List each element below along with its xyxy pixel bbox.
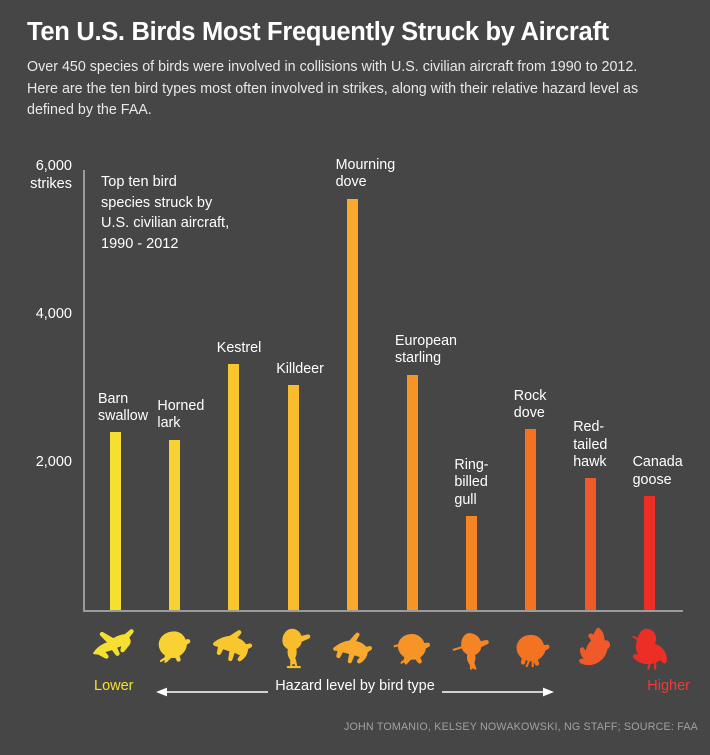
kestrel-icon: [208, 622, 260, 674]
bar-ring-billed-gull: [466, 516, 477, 610]
arrow-right-icon: [442, 687, 554, 697]
bar-label-barn-swallow: Barn swallow: [98, 391, 148, 426]
ring-billed-gull-icon: [445, 622, 497, 674]
bar-mourning-dove: [347, 199, 358, 610]
bar-label-rock-dove: Rock dove: [514, 388, 547, 423]
european-starling-icon: [386, 622, 438, 674]
hazard-legend: Lower Hazard level by bird type Higher: [0, 678, 710, 702]
red-tailed-hawk-icon: [564, 622, 616, 674]
infographic-root: Ten U.S. Birds Most Frequently Struck by…: [0, 0, 710, 755]
credit-line: JOHN TOMANIO, KELSEY NOWAKOWSKI, NG STAF…: [344, 721, 698, 733]
bar-european-starling: [407, 375, 418, 610]
bar-label-killdeer: Killdeer: [276, 361, 324, 378]
bar-label-european-starling: European starling: [395, 333, 457, 368]
barn-swallow-icon: [89, 622, 141, 674]
bar-label-horned-lark: Horned lark: [157, 398, 204, 433]
bar-label-ring-billed-gull: Ring- billed gull: [454, 457, 488, 509]
horned-lark-icon: [148, 622, 200, 674]
bar-label-canada-goose: Canada goose: [633, 454, 683, 489]
killdeer-icon: [267, 622, 319, 674]
bar-label-kestrel: Kestrel: [217, 340, 262, 357]
bar-canada-goose: [644, 496, 655, 610]
bird-silhouette-row: [0, 622, 710, 678]
bar-horned-lark: [169, 440, 180, 610]
hazard-center-label: Hazard level by bird type: [0, 678, 710, 694]
bar-killdeer: [288, 385, 299, 610]
bar-kestrel: [228, 364, 239, 610]
bar-red-tailed-hawk: [585, 478, 596, 610]
hazard-higher-label: Higher: [647, 678, 690, 694]
bar-label-mourning-dove: Mourning dove: [336, 157, 396, 192]
mourning-dove-icon: [327, 622, 379, 674]
rock-dove-icon: [505, 622, 557, 674]
bar-rock-dove: [525, 429, 536, 610]
bar-barn-swallow: [110, 432, 121, 610]
bar-label-red-tailed-hawk: Red- tailed hawk: [573, 419, 607, 471]
canada-goose-icon: [624, 622, 676, 674]
